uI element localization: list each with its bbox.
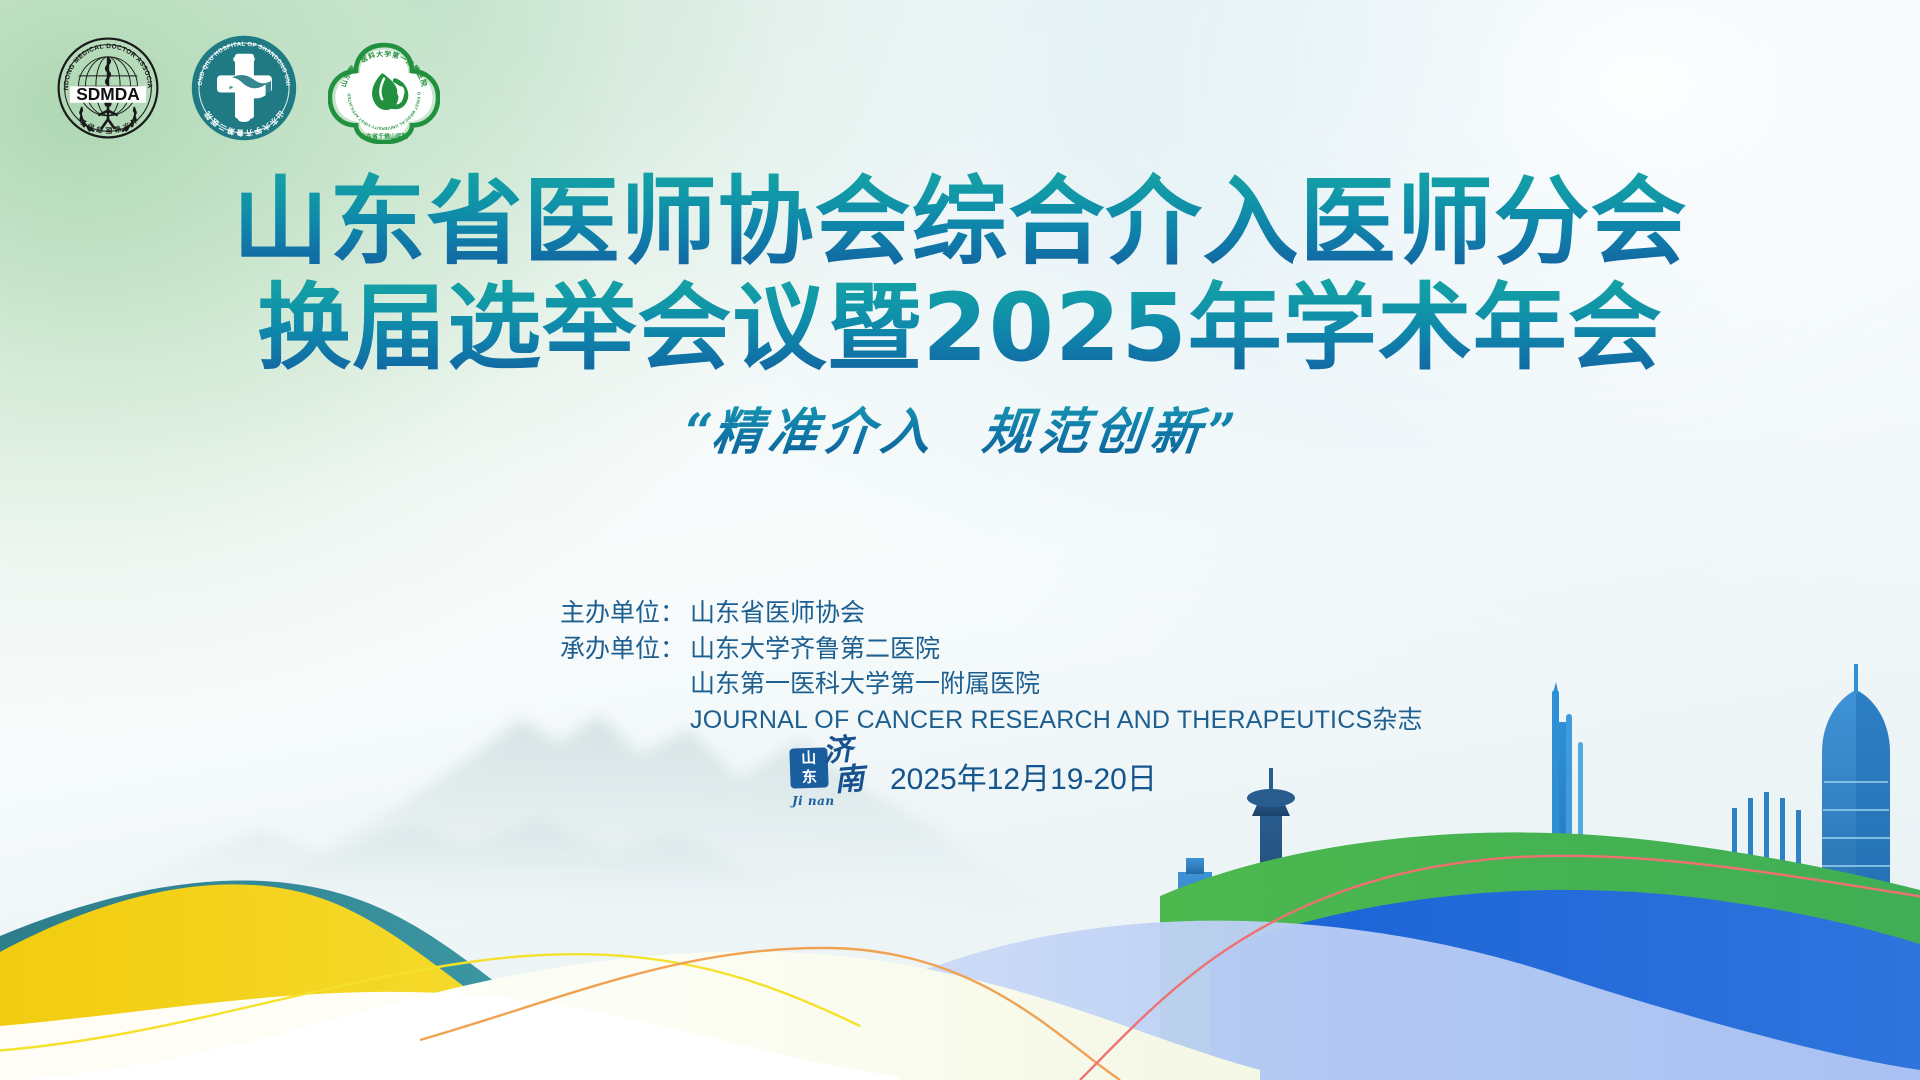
slogan-part-1: 精准介入	[710, 402, 940, 461]
jinan-location-seal: 山 东 Ji nan 济 南	[790, 738, 876, 814]
organizer-block: 主办单位： 山东省医师协会 承办单位： 山东大学齐鲁第二医院 山东第一医科大学第…	[560, 596, 1423, 738]
organizer-label-coorganizer: 承办单位：	[560, 632, 690, 668]
organizer-label-host: 主办单位：	[560, 596, 690, 632]
conference-date: 2025年12月19-20日	[890, 754, 1157, 798]
date-row: 山 东 Ji nan 济 南 2025年12月19-20日	[790, 738, 1157, 814]
jinan-char-nan: 南	[833, 764, 866, 797]
logo-row: SDMDA SHANDONG MEDICAL DOCTOR ASSOCIATIO…	[56, 32, 440, 144]
svg-text:SHANDONG MEDICAL DOCTOR ASSOCI: SHANDONG MEDICAL DOCTOR ASSOCIATION	[56, 36, 153, 90]
conference-slogan: “精准介入规范创新”	[0, 392, 1920, 464]
logo-shandong-first-medical-university-first-affiliated-hospital: 山东第一医科大学第一附属医院 SHANDONG FIRST MEDICAL UN…	[328, 32, 440, 144]
organizer-value-host: 山东省医师协会	[690, 596, 865, 632]
organizer-value-coorganizer-1: 山东大学齐鲁第二医院	[690, 632, 940, 668]
logo-shandong-medical-doctor-association: SDMDA SHANDONG MEDICAL DOCTOR ASSOCIATIO…	[56, 36, 160, 140]
slogan-part-2: 规范创新	[980, 402, 1210, 461]
title-block: 山东省医师协会综合介入医师分会 换届选举会议暨2025年学术年会	[0, 168, 1920, 383]
organizer-value-journal: JOURNAL OF CANCER RESEARCH AND THERAPEUT…	[560, 703, 1423, 739]
organizer-row-host: 主办单位： 山东省医师协会	[560, 596, 1423, 632]
slogan-close-quote: ”	[1204, 402, 1239, 461]
conference-title-line-1: 山东省医师协会综合介入医师分会	[0, 168, 1920, 276]
logo-second-qilu-hospital-shandong-university: THE SECOND QILU HOSPITAL OF SHANDONG UNI…	[190, 34, 298, 142]
jinan-calligraphy: 济 南	[821, 734, 865, 797]
seal-char-dong: 东	[790, 767, 829, 787]
svg-text:山东省千佛山医院: 山东省千佛山医院	[360, 132, 408, 140]
svg-text:SDMDA: SDMDA	[76, 84, 140, 104]
banner-canvas: SDMDA SHANDONG MEDICAL DOCTOR ASSOCIATIO…	[0, 0, 1920, 1080]
conference-title-line-2: 换届选举会议暨2025年学术年会	[0, 276, 1920, 382]
organizer-row-coorganizer: 承办单位： 山东大学齐鲁第二医院	[560, 632, 1423, 668]
organizer-value-coorganizer-2: 山东第一医科大学第一附属医院	[560, 667, 1423, 703]
